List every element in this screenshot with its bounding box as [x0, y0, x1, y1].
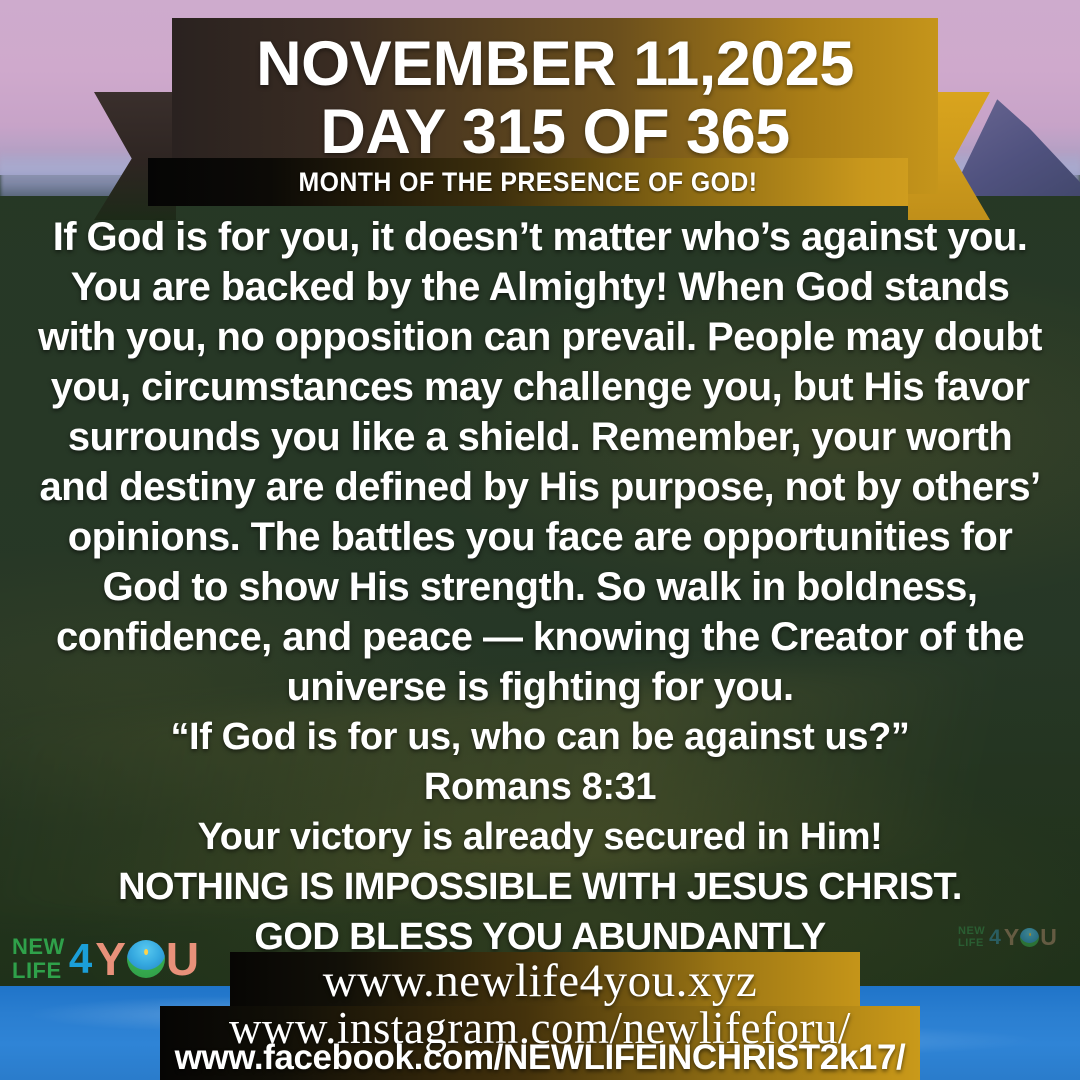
logo-wordmark: NEW LIFE — [958, 926, 985, 949]
body-line: you, circumstances may challenge you, bu… — [8, 362, 1072, 412]
title-day-count-line: DAY 315 OF 365 — [172, 96, 938, 164]
logo-you-group: Y U — [1004, 924, 1057, 951]
logo-letter-y: Y — [1004, 924, 1019, 951]
subtitle-banner: MONTH OF THE PRESENCE OF GOD! — [148, 158, 908, 206]
website-url[interactable]: www.newlife4you.xyz — [0, 955, 1080, 1007]
body-line: opinions. The battles you face are oppor… — [8, 512, 1072, 562]
body-line: and destiny are defined by His purpose, … — [8, 462, 1072, 512]
closing-line: Your victory is already secured in Him! — [8, 812, 1072, 862]
body-line: If God is for you, it doesn’t matter who… — [8, 212, 1072, 262]
logo-letter-u: U — [1040, 924, 1057, 951]
facebook-url[interactable]: www.facebook.com/NEWLIFEINCHRIST2k17/ — [0, 1038, 1080, 1078]
devotional-body: If God is for you, it doesn’t matter who… — [8, 212, 1072, 962]
body-line: You are backed by the Almighty! When God… — [8, 262, 1072, 312]
title-date-line: NOVEMBER 11,2025 — [172, 18, 938, 96]
logo-digit-four: 4 — [989, 926, 1001, 950]
body-line: universe is fighting for you. — [8, 662, 1072, 712]
scripture-quote: “If God is for us, who can be against us… — [8, 712, 1072, 762]
subtitle-text: MONTH OF THE PRESENCE OF GOD! — [178, 158, 877, 206]
body-line: confidence, and peace — knowing the Crea… — [8, 612, 1072, 662]
body-line: God to show His strength. So walk in bol… — [8, 562, 1072, 612]
poster-canvas: NOVEMBER 11,2025 DAY 315 OF 365 MONTH OF… — [0, 0, 1080, 1080]
logo-word-new: NEW — [958, 926, 985, 937]
logo-word-life: LIFE — [958, 938, 985, 949]
brand-logo-right: NEW LIFE 4 Y U — [958, 924, 1057, 951]
body-line: surrounds you like a shield. Remember, y… — [8, 412, 1072, 462]
body-line: with you, no opposition can prevail. Peo… — [8, 312, 1072, 362]
declaration-line: NOTHING IS IMPOSSIBLE WITH JESUS CHRIST. — [8, 862, 1072, 912]
scripture-reference: Romans 8:31 — [8, 762, 1072, 812]
sprout-orb-icon — [1020, 928, 1039, 947]
